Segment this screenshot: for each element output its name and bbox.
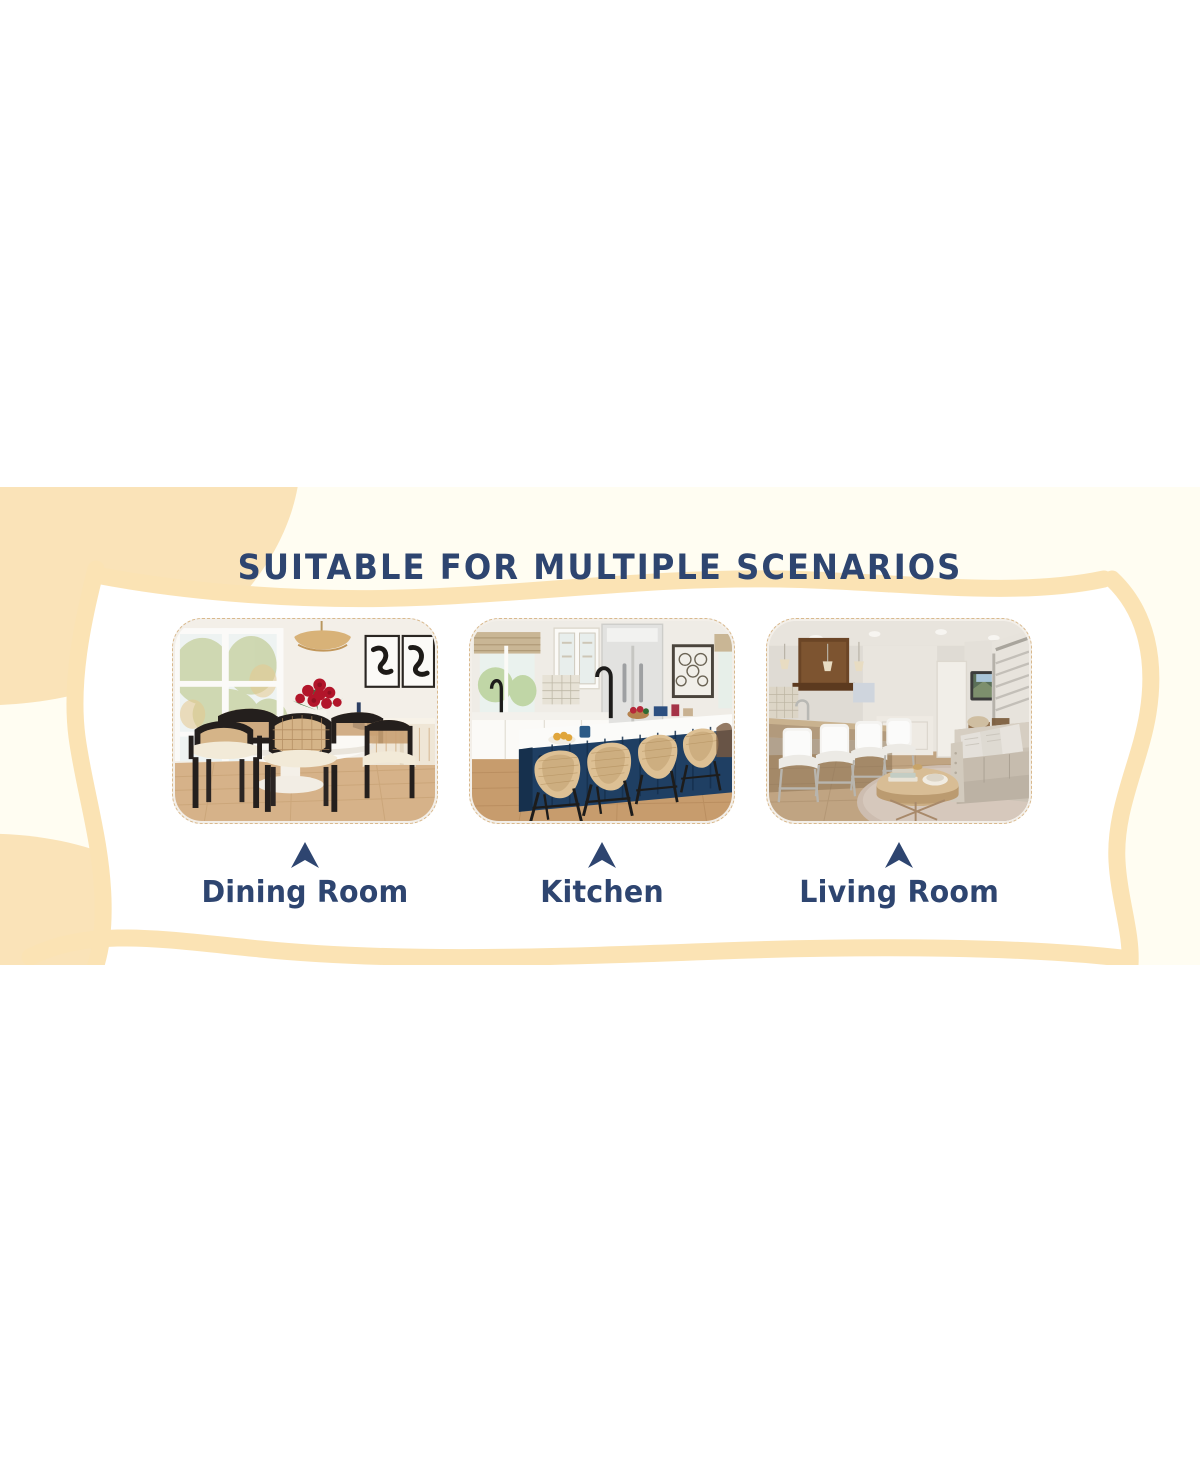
scenario-card-kitchen[interactable]: Kitchen xyxy=(469,618,735,910)
scenario-label-kitchen: Kitchen xyxy=(540,875,664,910)
caret-up-icon xyxy=(884,841,914,869)
kitchen-photo xyxy=(472,621,732,821)
page-title: SUITABLE FOR MULTIPLE SCENARIOS xyxy=(48,548,1152,588)
caret-up-glyph xyxy=(884,841,914,869)
kitchen-illustration xyxy=(472,621,732,821)
dining-room-photo xyxy=(175,621,435,821)
caret-up-icon xyxy=(290,841,320,869)
scenario-label-living-room: Living Room xyxy=(799,875,999,910)
caret-up-icon xyxy=(587,841,617,869)
dining-room-illustration xyxy=(175,621,435,821)
scenario-label-dining-room: Dining Room xyxy=(201,875,408,910)
caret-up-glyph xyxy=(290,841,320,869)
dining-room-photo-frame[interactable] xyxy=(172,618,438,824)
caret-up-glyph xyxy=(587,841,617,869)
kitchen-photo-frame[interactable] xyxy=(469,618,735,824)
scenario-card-dining-room[interactable]: Dining Room xyxy=(172,618,438,910)
living-room-illustration xyxy=(769,621,1029,821)
scenario-card-list: Dining Room xyxy=(172,618,1032,910)
scenarios-banner: SUITABLE FOR MULTIPLE SCENARIOS xyxy=(0,487,1200,965)
living-room-photo xyxy=(769,621,1029,821)
living-room-photo-frame[interactable] xyxy=(766,618,1032,824)
scenario-card-living-room[interactable]: Living Room xyxy=(766,618,1032,910)
